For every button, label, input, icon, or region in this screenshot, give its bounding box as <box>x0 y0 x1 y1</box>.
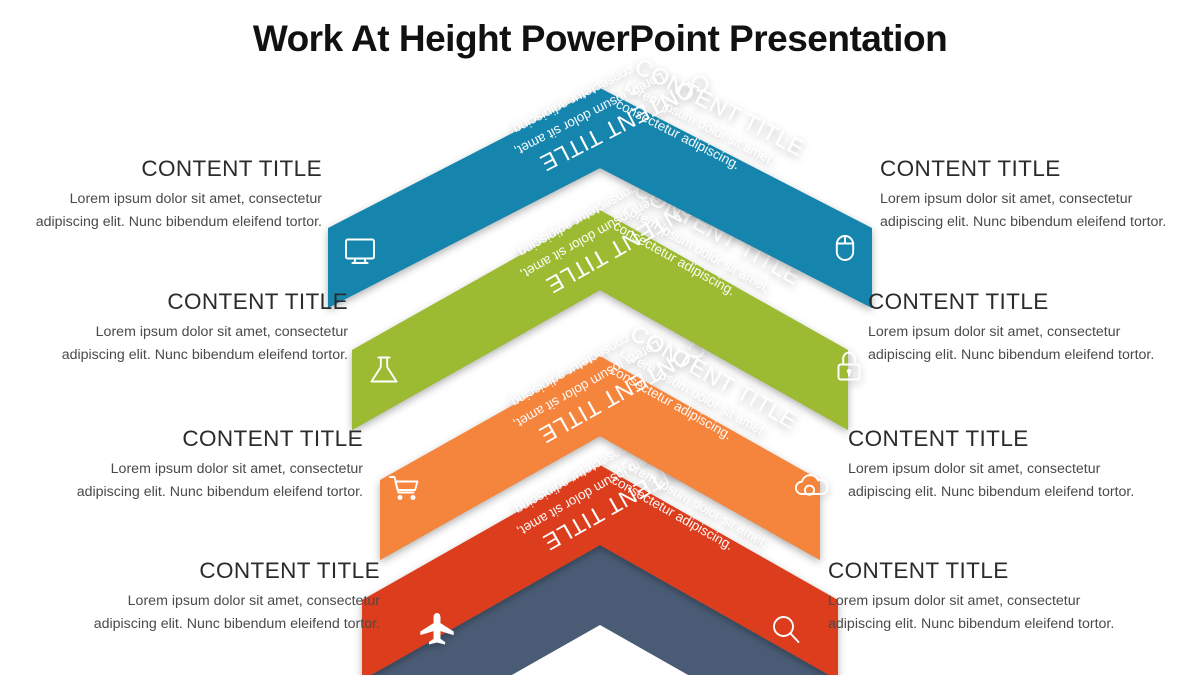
side-block-left-2[interactable]: CONTENT TITLE Lorem ipsum dolor sit amet… <box>48 288 348 367</box>
side-block-left-2-body: Lorem ipsum dolor sit amet, consectetur … <box>48 321 348 367</box>
slide-canvas: Work At Height PowerPoint Presentation C… <box>0 0 1200 675</box>
side-block-right-4-body: Lorem ipsum dolor sit amet, consectetur … <box>828 590 1128 636</box>
side-block-left-3-body: Lorem ipsum dolor sit amet, consectetur … <box>63 458 363 504</box>
side-block-right-2-title: CONTENT TITLE <box>868 288 1168 316</box>
side-block-left-1-title: CONTENT TITLE <box>22 155 322 183</box>
side-block-right-3[interactable]: CONTENT TITLE Lorem ipsum dolor sit amet… <box>848 425 1148 504</box>
side-block-left-1-body: Lorem ipsum dolor sit amet, consectetur … <box>22 188 322 234</box>
side-block-left-4-body: Lorem ipsum dolor sit amet, consectetur … <box>80 590 380 636</box>
side-block-left-3[interactable]: CONTENT TITLE Lorem ipsum dolor sit amet… <box>63 425 363 504</box>
side-block-right-2[interactable]: CONTENT TITLE Lorem ipsum dolor sit amet… <box>868 288 1168 367</box>
side-block-right-1[interactable]: CONTENT TITLE Lorem ipsum dolor sit amet… <box>880 155 1180 234</box>
side-block-left-1[interactable]: CONTENT TITLE Lorem ipsum dolor sit amet… <box>22 155 322 234</box>
side-block-left-4-title: CONTENT TITLE <box>80 557 380 585</box>
side-block-right-3-title: CONTENT TITLE <box>848 425 1148 453</box>
side-block-right-4-title: CONTENT TITLE <box>828 557 1128 585</box>
side-block-left-2-title: CONTENT TITLE <box>48 288 348 316</box>
side-block-right-1-title: CONTENT TITLE <box>880 155 1180 183</box>
side-block-right-1-body: Lorem ipsum dolor sit amet, consectetur … <box>880 188 1180 234</box>
side-block-right-4[interactable]: CONTENT TITLE Lorem ipsum dolor sit amet… <box>828 557 1128 636</box>
chevron-red[interactable]: CONTENT TITLE Lorem ipsum dolor sit amet… <box>362 408 838 675</box>
side-block-left-4[interactable]: CONTENT TITLE Lorem ipsum dolor sit amet… <box>80 557 380 636</box>
page-title: Work At Height PowerPoint Presentation <box>0 18 1200 60</box>
side-block-right-2-body: Lorem ipsum dolor sit amet, consectetur … <box>868 321 1168 367</box>
side-block-right-3-body: Lorem ipsum dolor sit amet, consectetur … <box>848 458 1148 504</box>
side-block-left-3-title: CONTENT TITLE <box>63 425 363 453</box>
